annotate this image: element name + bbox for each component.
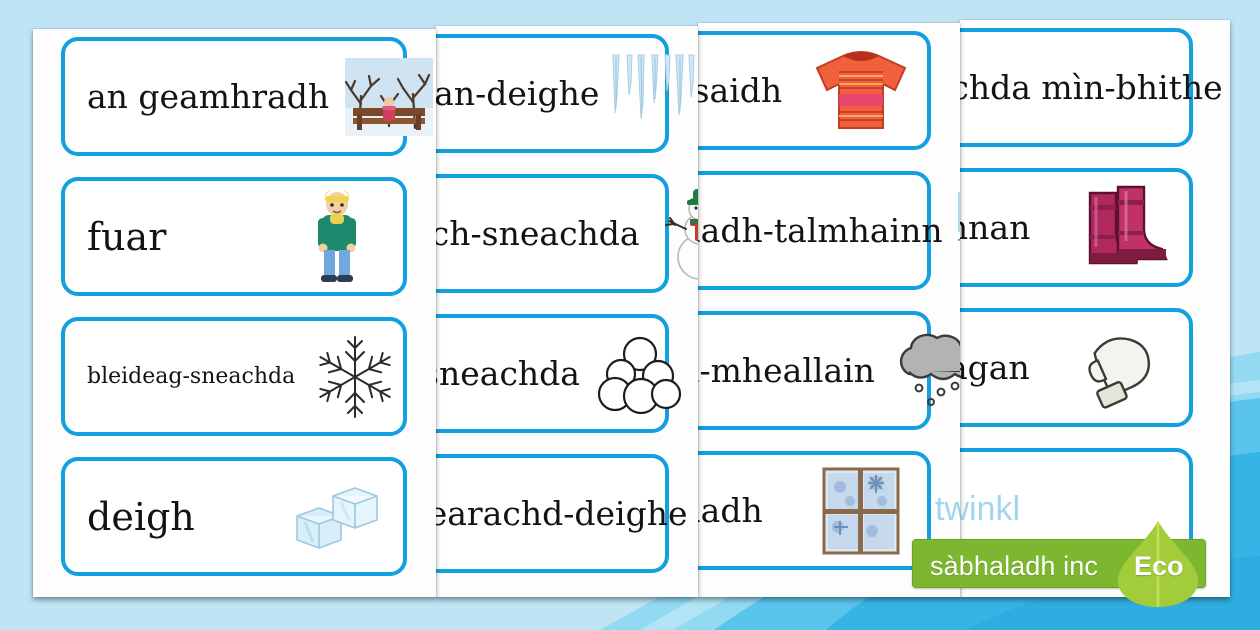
word-card[interactable]: deigh	[61, 457, 407, 576]
word-card-label: caisean-deighe	[436, 77, 599, 110]
word-card[interactable]: caisean-deighe	[436, 34, 669, 153]
mitten-icon	[1071, 320, 1175, 416]
word-card[interactable]: geansaidh	[698, 31, 931, 150]
worksheet-page-2[interactable]: caisean-deighe	[436, 26, 698, 597]
word-card-label: bleideag-sneachda	[81, 366, 295, 388]
snowballs-icon	[588, 326, 692, 422]
word-card[interactable]: miotagan	[960, 308, 1193, 427]
frozen-window-icon	[809, 463, 913, 559]
word-card-label: bodach-sneachda	[436, 217, 640, 250]
jumper-icon	[809, 43, 913, 139]
ice-skater-icon	[695, 466, 698, 562]
word-card-label: deigh	[81, 498, 195, 536]
snowflake-icon	[303, 329, 407, 425]
word-card-label: reothadh-talmhainn	[698, 214, 943, 247]
word-card-label: fuar	[81, 218, 166, 256]
winter-tree-bench-icon	[337, 49, 436, 145]
hail-cloud-icon	[883, 323, 960, 419]
wellington-boots-icon	[1071, 180, 1175, 276]
word-card[interactable]: an geamhradh	[61, 37, 407, 156]
worksheet-preview: an geamhradh	[0, 0, 1260, 630]
word-card[interactable]: fuar	[61, 177, 407, 296]
word-card-label: miotagan	[960, 351, 1030, 384]
page-2-content: caisean-deighe	[436, 26, 698, 596]
eco-badge-label: sàbhaladh inc	[930, 551, 1098, 582]
word-card-label: sneachda mìn-bhithe	[960, 71, 1223, 104]
icicles-icon	[607, 46, 698, 142]
word-card[interactable]: bòtannan	[960, 168, 1193, 287]
word-card-label: clach-mheallain	[698, 354, 875, 387]
word-card[interactable]: spèilearachd-deighe	[436, 454, 669, 573]
ice-cubes-icon	[285, 469, 389, 565]
word-card-label: reothadh	[698, 494, 763, 527]
word-card-label: an geamhradh	[81, 80, 329, 113]
page-3-content: geansaidh	[698, 23, 960, 593]
worksheet-page-4[interactable]: sneachda mìn-bhithe	[960, 20, 1230, 597]
word-card[interactable]: ball-sneachda	[436, 314, 669, 433]
frost-ground-icon	[951, 183, 960, 279]
eco-saving-badge[interactable]: sàbhaladh inc Eco	[912, 531, 1208, 593]
word-card-label: geansaidh	[698, 74, 782, 107]
word-card[interactable]: reothadh-talmhainn	[698, 171, 931, 290]
worksheet-page-3[interactable]: geansaidh	[698, 23, 960, 597]
cold-person-icon	[285, 189, 389, 285]
word-card[interactable]: bodach-sneachda	[436, 174, 669, 293]
worksheet-page-1[interactable]: an geamhradh	[33, 29, 436, 597]
word-card[interactable]: bleideag-sneachda	[61, 317, 407, 436]
snowman-icon	[648, 186, 698, 282]
page-1-content: an geamhradh	[33, 29, 436, 597]
eco-badge-eco-label: Eco	[1134, 551, 1184, 582]
word-card[interactable]: reothadh	[698, 451, 931, 570]
word-card-label: bòtannan	[960, 211, 1030, 244]
page-4-content: sneachda mìn-bhithe	[960, 20, 1230, 590]
word-card[interactable]: sneachda mìn-bhithe	[960, 28, 1193, 147]
word-card[interactable]: clach-mheallain	[698, 311, 931, 430]
word-card-label: spèilearachd-deighe	[436, 497, 687, 530]
word-card-label: ball-sneachda	[436, 357, 580, 390]
